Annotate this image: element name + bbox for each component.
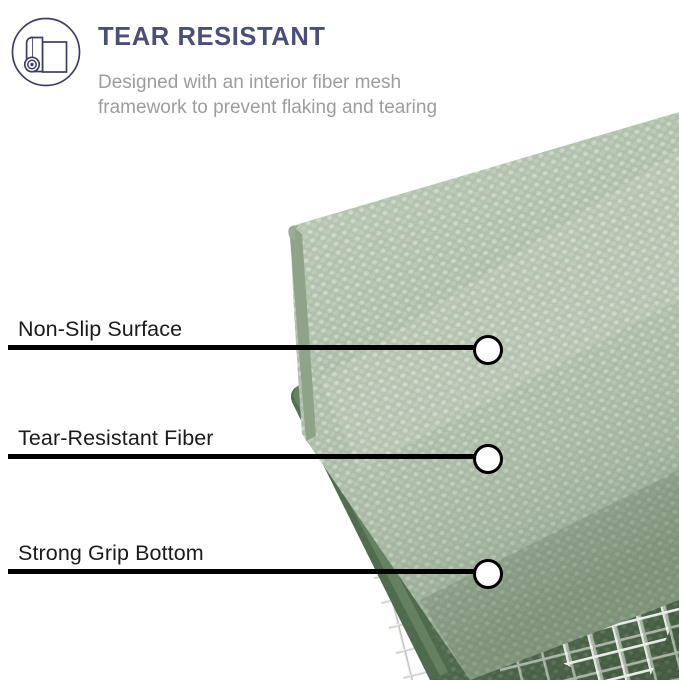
callout-leader-line: [8, 569, 490, 574]
callout-non-slip-surface: Non-Slip Surface: [0, 303, 679, 363]
callout-marker-dot: [473, 444, 503, 474]
callout-leader-line: [8, 345, 490, 350]
callout-label: Tear-Resistant Fiber: [18, 426, 214, 451]
callout-tear-resistant-fiber: Tear-Resistant Fiber: [0, 412, 679, 472]
callout-leader-line: [8, 454, 490, 459]
mat-roll-icon: [10, 16, 82, 88]
infographic-canvas: TEAR RESISTANT Designed with an interior…: [0, 0, 679, 680]
header-text-group: TEAR RESISTANT Designed with an interior…: [98, 24, 458, 121]
callout-strong-grip-bottom: Strong Grip Bottom: [0, 527, 679, 587]
callout-marker-dot: [473, 335, 503, 365]
feature-description: Designed with an interior fiber mesh fra…: [98, 70, 438, 121]
callout-marker-dot: [473, 559, 503, 589]
callout-label: Non-Slip Surface: [18, 317, 182, 342]
feature-header: TEAR RESISTANT Designed with an interior…: [0, 0, 470, 175]
callout-label: Strong Grip Bottom: [18, 541, 204, 566]
page-title: TEAR RESISTANT: [98, 24, 458, 51]
